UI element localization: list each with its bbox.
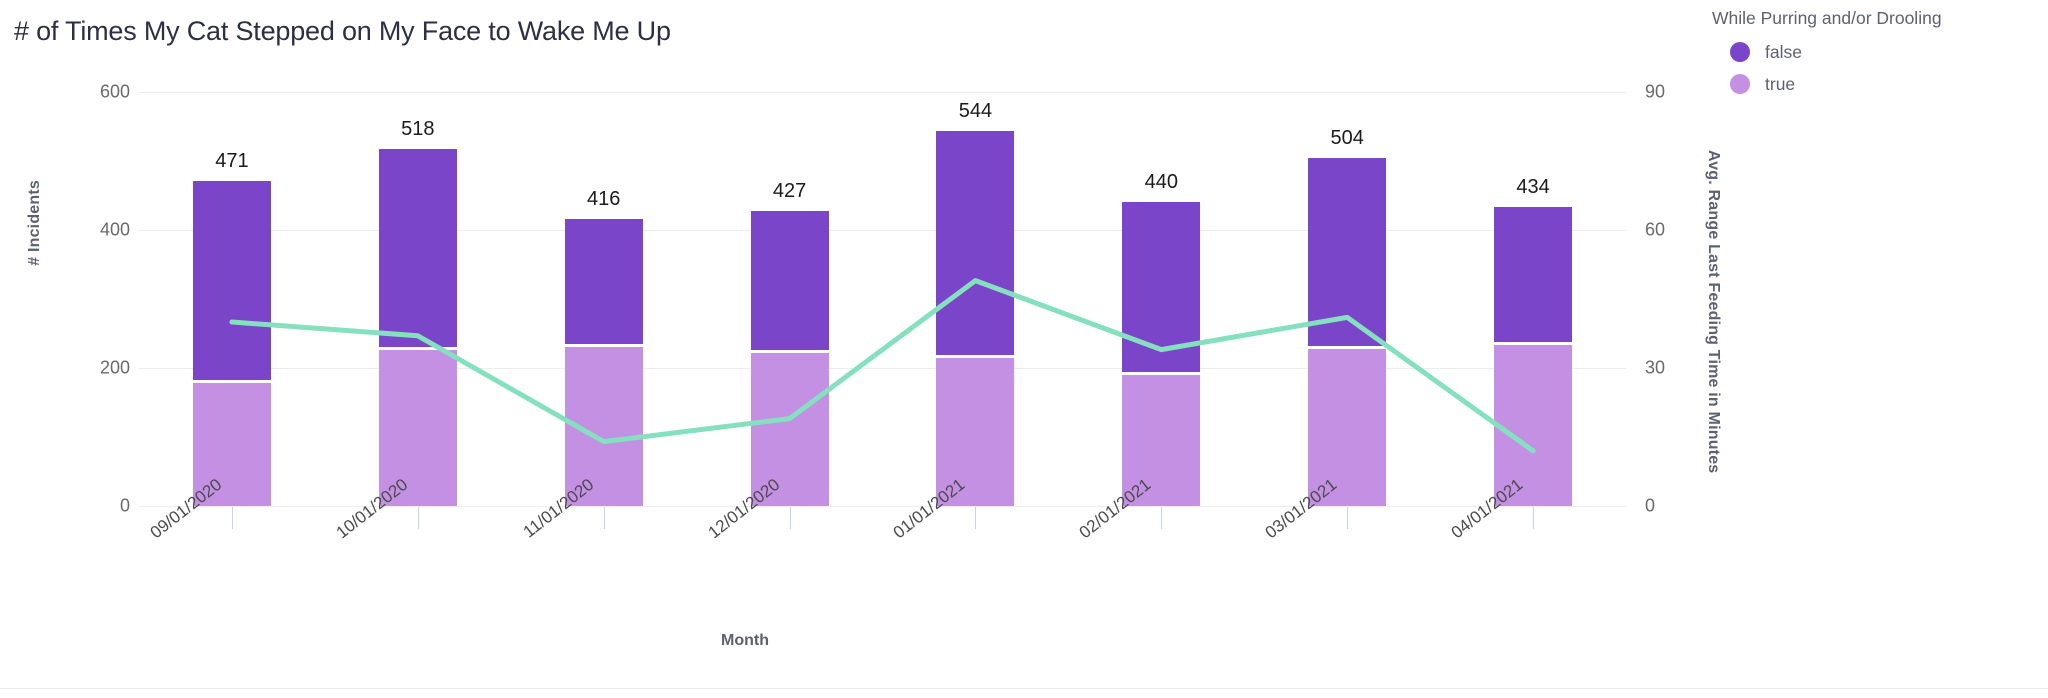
y-left-tick-0: 0 <box>68 496 130 517</box>
legend-swatch-false <box>1730 42 1750 62</box>
line-series-path[interactable] <box>232 281 1533 451</box>
x-axis-tick <box>1533 507 1534 529</box>
x-axis-title: Month <box>0 632 1490 650</box>
x-axis-tick <box>1347 507 1348 529</box>
y-axis-right-title: Avg. Range Last Feeding Time in Minutes <box>1678 150 1724 420</box>
x-axis-tick <box>790 507 791 529</box>
legend-label-true: true <box>1765 74 1795 95</box>
y-right-tick-60: 60 <box>1645 220 1695 241</box>
plot-area: 471518416427544440504434 <box>139 92 1626 506</box>
y-left-tick-200: 200 <box>68 358 130 379</box>
legend: While Purring and/or Drooling false true <box>1712 8 2042 100</box>
x-axis-tick <box>1161 507 1162 529</box>
legend-item-true[interactable]: true <box>1712 68 2042 100</box>
legend-swatch-true <box>1730 74 1750 94</box>
chart-page: # of Times My Cat Stepped on My Face to … <box>0 0 2048 698</box>
legend-label-false: false <box>1765 42 1802 63</box>
x-axis-tick <box>975 507 976 529</box>
y-left-tick-400: 400 <box>68 220 130 241</box>
y-right-tick-90: 90 <box>1645 82 1695 103</box>
legend-item-false[interactable]: false <box>1712 36 2042 68</box>
line-series-layer <box>139 92 1626 506</box>
legend-title: While Purring and/or Drooling <box>1712 8 2042 29</box>
x-axis-tick <box>232 507 233 529</box>
y-right-tick-30: 30 <box>1645 358 1695 379</box>
y-left-tick-600: 600 <box>68 82 130 103</box>
page-title: # of Times My Cat Stepped on My Face to … <box>14 16 671 47</box>
x-axis-tick <box>418 507 419 529</box>
bottom-divider <box>0 688 2048 689</box>
x-axis-tick <box>604 507 605 529</box>
y-right-tick-0: 0 <box>1645 496 1695 517</box>
y-axis-left-title: # Incidents <box>26 180 44 266</box>
